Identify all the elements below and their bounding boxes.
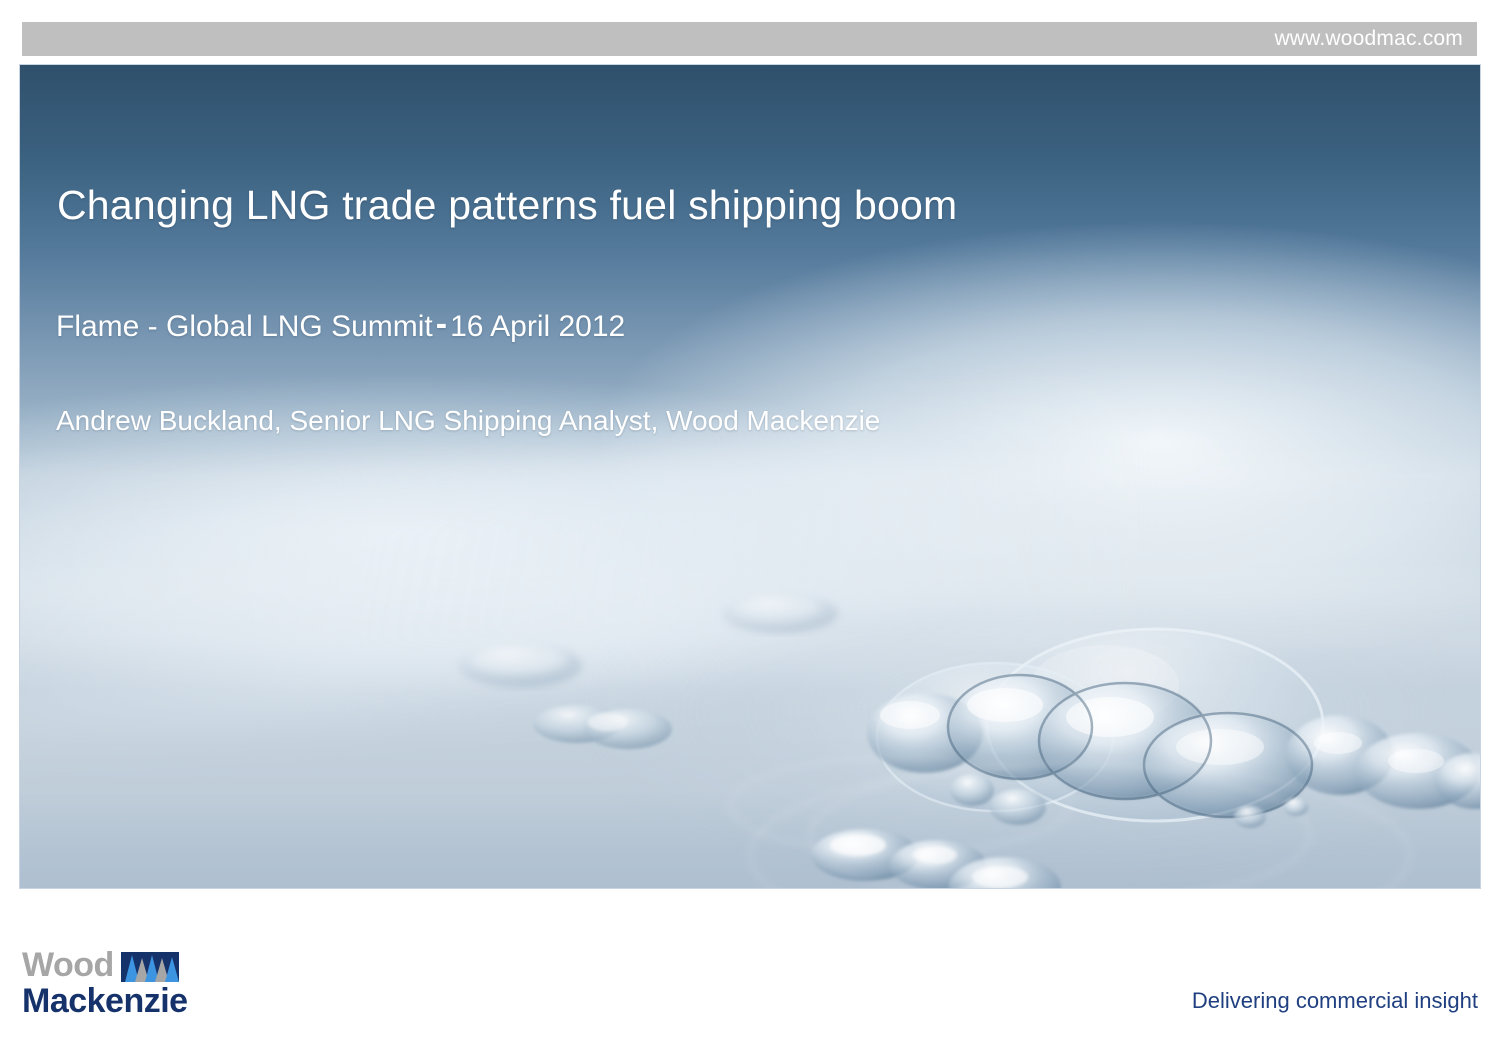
logo-word-wood: Wood (22, 948, 114, 982)
website-url-bar: www.woodmac.com (22, 22, 1477, 56)
mountain-peaks-icon (121, 952, 179, 982)
slide-hero-image: Changing LNG trade patterns fuel shippin… (20, 65, 1480, 888)
website-url-text[interactable]: www.woodmac.com (1274, 27, 1463, 51)
presenter-line: Andrew Buckland, Senior LNG Shipping Ana… (56, 405, 880, 437)
slide-subtitle: Flame - Global LNG Summit-16 April 2012 (56, 305, 625, 345)
subtitle-dash: - (433, 305, 450, 343)
wood-mackenzie-logo: Wood Mackenzie (22, 946, 282, 1024)
subtitle-date: 16 April 2012 (450, 310, 625, 343)
logo-top-row: Wood (22, 946, 282, 982)
page-title: Changing LNG trade patterns fuel shippin… (57, 183, 957, 228)
logo-word-mackenzie: Mackenzie (22, 983, 282, 1019)
subtitle-event: Flame - Global LNG Summit (56, 310, 433, 343)
company-tagline: Delivering commercial insight (1192, 988, 1478, 1014)
